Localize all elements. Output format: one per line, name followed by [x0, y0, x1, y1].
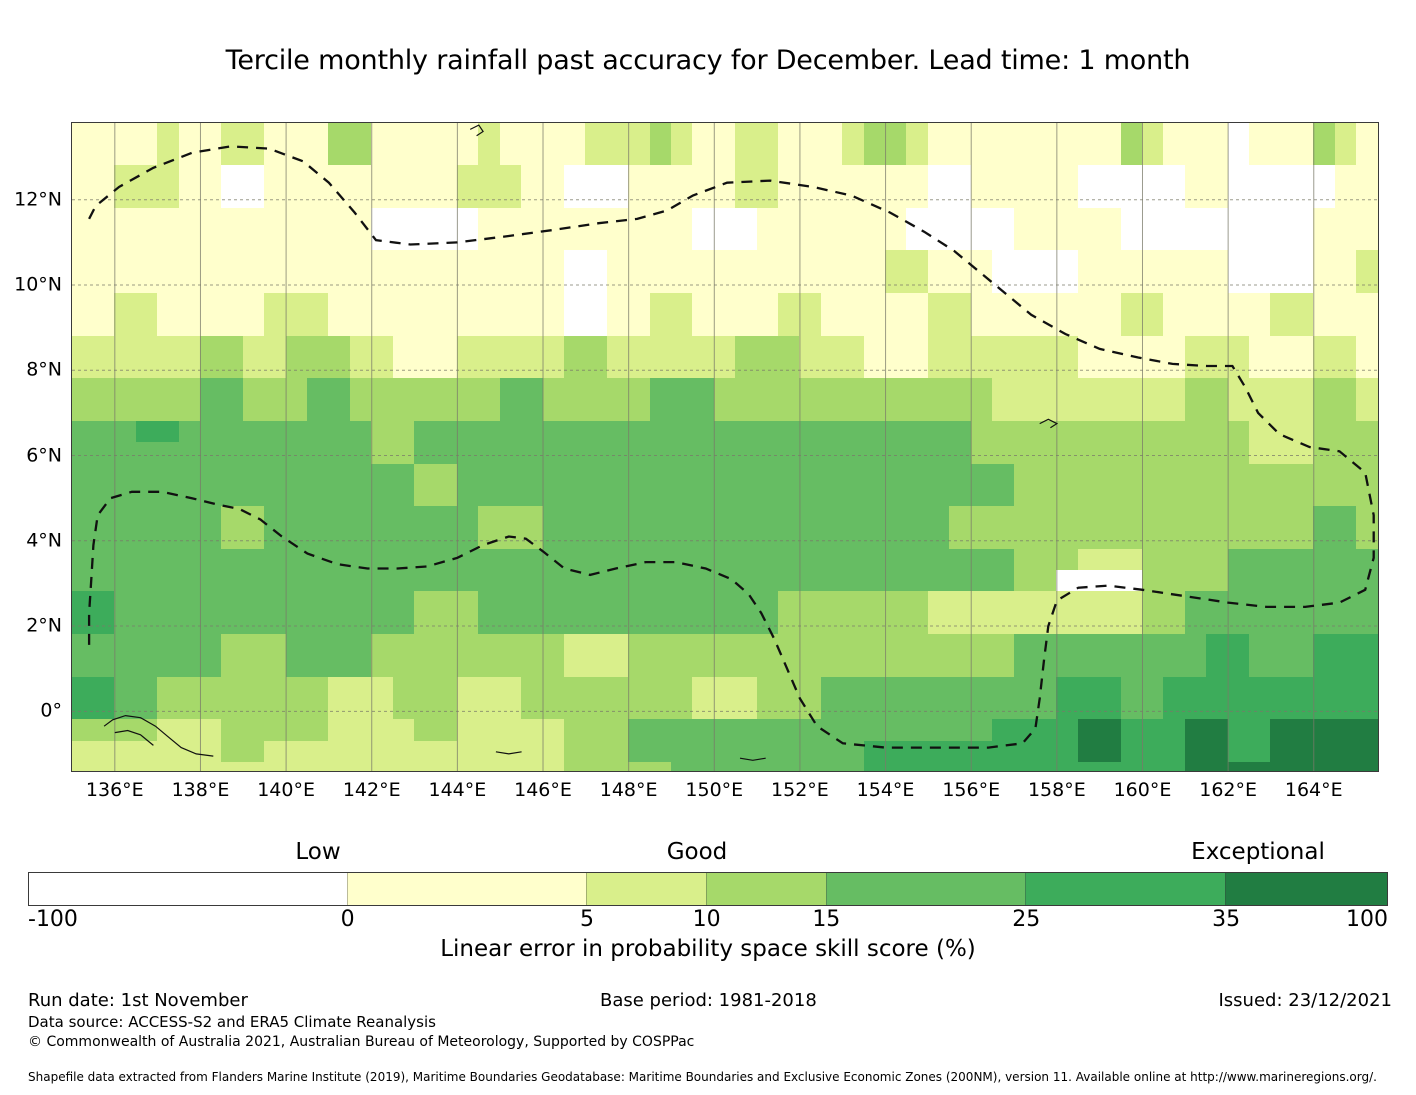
base-period-text: Base period: 1981-2018 — [600, 990, 817, 1012]
colorbar-tick-label: 35 — [1212, 909, 1240, 931]
footer-primary-row: Run date: 1st November Base period: 1981… — [0, 990, 1416, 1012]
longitude-tick-label: 148°E — [600, 781, 658, 800]
colorbar-segment[interactable] — [1025, 873, 1225, 905]
longitude-tick-label: 146°E — [514, 781, 572, 800]
longitude-tick-label: 152°E — [771, 781, 829, 800]
colorbar-tick-label: 25 — [1012, 909, 1040, 931]
longitude-tick-label: 140°E — [257, 781, 315, 800]
latitude-tick-label: 2°N — [26, 617, 62, 636]
colorbar-segment[interactable] — [1225, 873, 1387, 905]
page-title: Tercile monthly rainfall past accuracy f… — [0, 44, 1416, 78]
colorbar-tick-label: 0 — [341, 909, 355, 931]
colorbar-segments[interactable] — [28, 872, 1388, 906]
colorbar-tick-label: 15 — [812, 909, 840, 931]
colorbar-segment[interactable] — [586, 873, 706, 905]
shapefile-attribution-text: Shapefile data extracted from Flanders M… — [28, 1069, 1377, 1085]
colorbar-segment[interactable] — [29, 873, 347, 905]
longitude-tick-label: 156°E — [942, 781, 1000, 800]
longitude-tick-label: 142°E — [343, 781, 401, 800]
colorbar[interactable] — [28, 872, 1388, 906]
latitude-tick-label: 8°N — [26, 361, 62, 380]
colorbar-region-label: Exceptional — [1191, 841, 1325, 864]
colorbar-tick-label: 100 — [1346, 909, 1388, 931]
longitude-tick-label: 136°E — [86, 781, 144, 800]
issued-date-text: Issued: 23/12/2021 — [1218, 990, 1392, 1012]
longitude-tick-label: 154°E — [857, 781, 915, 800]
longitude-tick-label: 138°E — [172, 781, 230, 800]
latitude-tick-label: 4°N — [26, 531, 62, 550]
longitude-tick-label: 162°E — [1199, 781, 1257, 800]
colorbar-axis-title: Linear error in probability space skill … — [0, 936, 1416, 963]
longitude-tick-label: 150°E — [685, 781, 743, 800]
skill-score-heatmap — [72, 123, 1378, 771]
map-plot-area[interactable] — [71, 122, 1379, 772]
colorbar-segment[interactable] — [826, 873, 1026, 905]
colorbar-tick-label: 10 — [693, 909, 721, 931]
latitude-tick-label: 6°N — [26, 446, 62, 465]
latitude-tick-label: 10°N — [14, 276, 62, 295]
run-date-text: Run date: 1st November — [28, 990, 248, 1012]
latitude-tick-label: 0° — [40, 702, 62, 721]
longitude-tick-label: 160°E — [1114, 781, 1172, 800]
colorbar-region-label: Good — [667, 841, 728, 864]
longitude-tick-label: 158°E — [1028, 781, 1086, 800]
colorbar-tick-label: -100 — [28, 909, 78, 931]
colorbar-segment[interactable] — [706, 873, 826, 905]
longitude-tick-label: 164°E — [1285, 781, 1343, 800]
colorbar-segment[interactable] — [347, 873, 586, 905]
colorbar-region-label: Low — [295, 841, 340, 864]
latitude-tick-label: 12°N — [14, 190, 62, 209]
copyright-text: © Commonwealth of Australia 2021, Austra… — [28, 1033, 694, 1051]
colorbar-tick-label: 5 — [580, 909, 594, 931]
longitude-tick-label: 144°E — [428, 781, 486, 800]
data-source-text: Data source: ACCESS-S2 and ERA5 Climate … — [28, 1013, 436, 1032]
